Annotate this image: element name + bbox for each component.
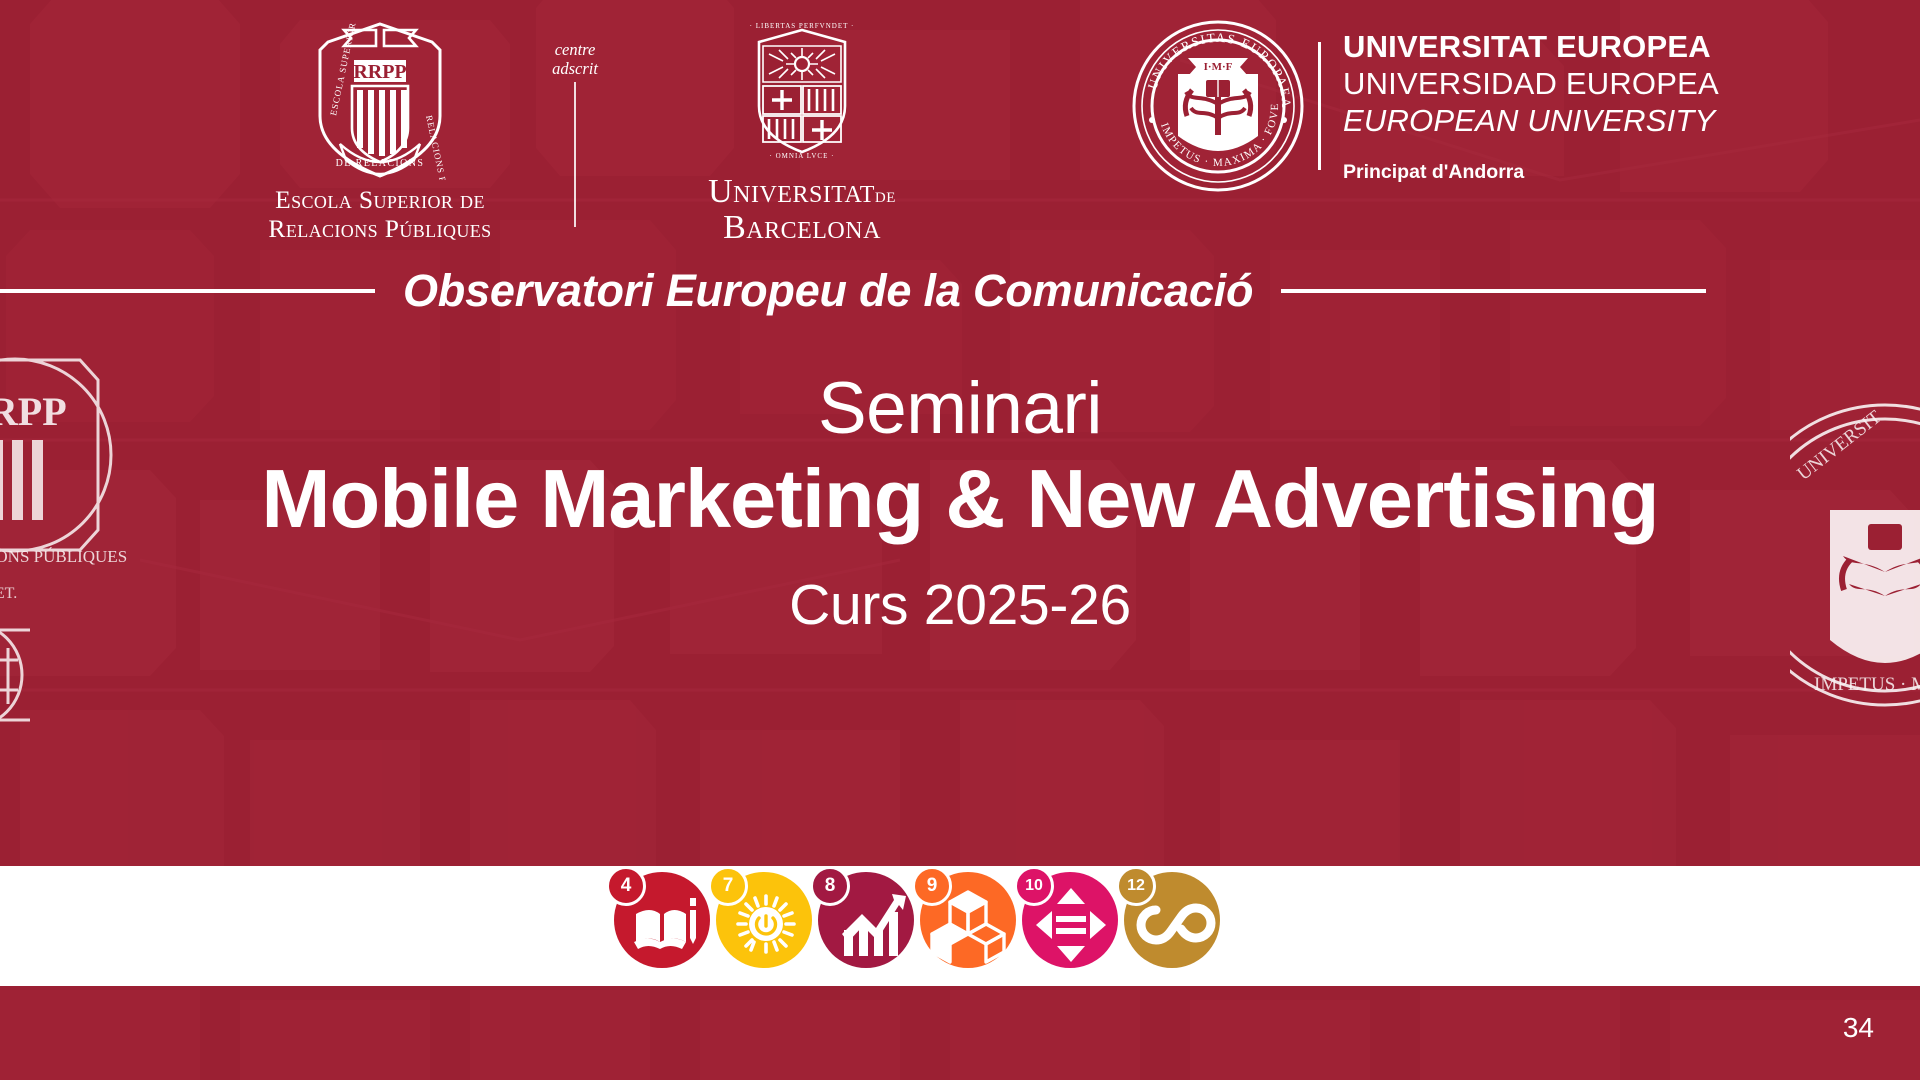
- sdg-10-number: 10: [1014, 866, 1054, 906]
- sdg-goal-12[interactable]: 12: [1124, 872, 1220, 968]
- seminar-title: Mobile Marketing & New Advertising: [0, 453, 1920, 546]
- sdg-4-number: 4: [606, 866, 646, 906]
- ue-divider: [1318, 42, 1321, 170]
- esrp-name-line2: Relacions Públiques: [268, 215, 491, 244]
- sdg-goal-10[interactable]: 10: [1022, 872, 1118, 968]
- adscrit-line2: adscrit: [532, 59, 618, 78]
- band-title: Observatori Europeu de la Comunicació: [375, 265, 1281, 317]
- sdg-goal-9[interactable]: 9: [920, 872, 1016, 968]
- ub-name-line2: Barcelona: [708, 210, 896, 246]
- slide-root: RRPP RELACIONS PÚBLIQUES PERFVNDET. A LV…: [0, 0, 1920, 1080]
- ub-name-main: Universitat: [708, 173, 875, 210]
- esrp-name: Escola Superior de Relacions Públiques: [268, 186, 491, 243]
- svg-text:I·M·F: I·M·F: [1204, 61, 1233, 73]
- ue-line-es: UNIVERSIDAD EUROPEA: [1343, 65, 1719, 102]
- academic-year: Curs 2025-26: [0, 572, 1920, 638]
- svg-text:DE RELACIONS: DE RELACIONS: [336, 158, 425, 169]
- sdg-goal-8[interactable]: 8: [818, 872, 914, 968]
- page-number: 34: [1843, 1012, 1874, 1044]
- ub-name: Universitatde Barcelona: [708, 174, 896, 246]
- svg-text:IMPETUS · MA: IMPETUS · MA: [1814, 674, 1920, 695]
- esrp-shield-icon: RRPP DE RELACIONS ESCOLA SUPERIOR REL: [314, 20, 446, 180]
- logo-universitat-europea: UNIVERSITAS EUROPAEA IMPETUS · MAXIMA · …: [1132, 20, 1719, 192]
- svg-text:RRPP: RRPP: [353, 61, 406, 83]
- band-rule-left: [0, 289, 375, 293]
- ub-motto-top: · LIBERTAS PERFVNDET ·: [750, 22, 855, 30]
- ue-name: UNIVERSITAT EUROPEA UNIVERSIDAD EUROPEA …: [1343, 28, 1719, 184]
- sdg-icon-row: 4 7: [614, 872, 1220, 968]
- observatori-band: Observatori Europeu de la Comunicació: [0, 268, 1920, 314]
- sdg-8-number: 8: [810, 866, 850, 906]
- ue-line-en: EUROPEAN UNIVERSITY: [1343, 102, 1719, 139]
- ue-seal-icon: UNIVERSITAS EUROPAEA IMPETUS · MAXIMA · …: [1132, 20, 1304, 192]
- ue-line-andorra: Principat d'Andorra: [1343, 161, 1719, 184]
- ub-name-de: de: [875, 182, 896, 207]
- header-logos: RRPP DE RELACIONS ESCOLA SUPERIOR REL: [0, 14, 1920, 229]
- sdg-goal-7[interactable]: 7: [716, 872, 812, 968]
- sdg-9-number: 9: [912, 866, 952, 906]
- adscrit-line1: centre: [532, 40, 618, 59]
- esrp-name-line1: Escola Superior de: [268, 186, 491, 215]
- sdg-goal-4[interactable]: 4: [614, 872, 710, 968]
- sdg-12-number: 12: [1116, 866, 1156, 906]
- ub-shield-icon: · LIBERTAS PERFVNDET · · OMNIA LVCE ·: [749, 20, 855, 160]
- centre-adscrit-label: centre adscrit: [532, 40, 618, 78]
- centre-adscrit-block: centre adscrit: [520, 20, 680, 220]
- seminar-label: Seminari: [0, 370, 1920, 447]
- ub-motto-bottom: · OMNIA LVCE ·: [770, 152, 835, 160]
- logo-universitat-de-barcelona: · LIBERTAS PERFVNDET · · OMNIA LVCE · Un…: [652, 20, 952, 246]
- ub-name-line1: Universitatde: [708, 174, 896, 210]
- logo-divider: [574, 82, 576, 227]
- title-block: Seminari Mobile Marketing & New Advertis…: [0, 370, 1920, 638]
- sdg-7-number: 7: [708, 866, 748, 906]
- band-rule-right: [1281, 289, 1706, 293]
- ue-line-ca: UNIVERSITAT EUROPEA: [1343, 28, 1719, 65]
- logo-esrp: RRPP DE RELACIONS ESCOLA SUPERIOR REL: [240, 20, 520, 243]
